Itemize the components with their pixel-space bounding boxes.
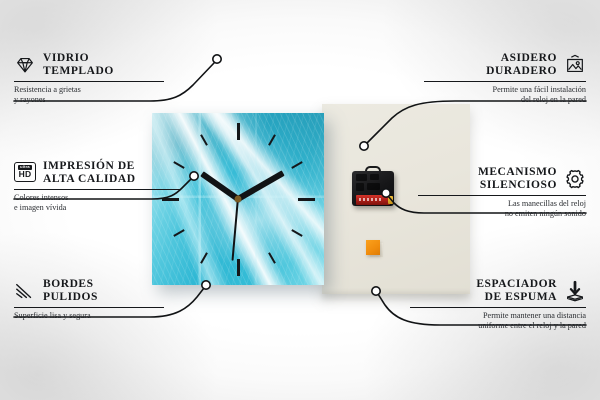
foam-spacer-pad	[366, 240, 380, 255]
aa-battery	[356, 195, 390, 205]
polished-edge-icon	[14, 280, 36, 302]
callout-asidero-duradero: ASIDERO DURADERO Permite una fácil insta…	[424, 52, 586, 105]
callout-rule	[14, 189, 180, 190]
callout-desc: Colores intensos e imagen vívida	[14, 193, 180, 213]
callout-impresion-alta-calidad: ultra HD IMPRESIÓN DE ALTA CALIDAD Color…	[14, 160, 180, 213]
callout-rule	[14, 307, 164, 308]
callout-desc: Permite una fácil instalación del reloj …	[424, 85, 586, 105]
callout-rule	[424, 81, 586, 82]
battery-label-print	[359, 198, 383, 201]
callout-desc: Permite mantener una distancia uniforme …	[410, 311, 586, 331]
mechanism-detail-d	[367, 183, 380, 190]
callout-desc: Las manecillas del reloj no emiten ningú…	[418, 199, 586, 219]
callout-rule	[410, 307, 586, 308]
callout-title: VIDRIO TEMPLADO	[43, 52, 114, 77]
callout-rule	[418, 195, 586, 196]
ultra-hd-icon: ultra HD	[14, 162, 36, 184]
callout-rule	[14, 81, 164, 82]
gear-icon	[564, 168, 586, 190]
foam-spacer	[366, 240, 383, 257]
infographic-canvas: VIDRIO TEMPLADO Resistencia a grietas y …	[0, 0, 600, 400]
diamond-icon	[14, 54, 36, 76]
mechanism-detail-b	[370, 174, 379, 180]
clock-tick	[298, 198, 315, 201]
mechanism-body	[352, 171, 394, 206]
down-arrow-pad-icon	[564, 280, 586, 302]
clock-tick	[237, 123, 240, 140]
callout-title: MECANISMO SILENCIOSO	[478, 166, 557, 191]
callout-desc: Resistencia a grietas y rayones	[14, 85, 164, 105]
callout-vidrio-templado: VIDRIO TEMPLADO Resistencia a grietas y …	[14, 52, 164, 105]
callout-bordes-pulidos: BORDES PULIDOS Superficie lisa y segura	[14, 278, 164, 321]
clock-center-hub	[235, 196, 242, 203]
wall-hanging-frame-icon	[564, 54, 586, 76]
ultra-hd-icon-main-text: HD	[19, 170, 32, 179]
callout-title: BORDES PULIDOS	[43, 278, 98, 303]
mechanism-detail-a	[356, 174, 367, 181]
callout-mecanismo-silencioso: MECANISMO SILENCIOSO Las manecillas del …	[418, 166, 586, 219]
callout-title: IMPRESIÓN DE ALTA CALIDAD	[43, 160, 136, 185]
callout-espaciador-de-espuma: ESPACIADOR DE ESPUMA Permite mantener un…	[410, 278, 586, 331]
clock-tick	[237, 259, 240, 276]
clock-mechanism	[352, 166, 394, 206]
callout-title: ASIDERO DURADERO	[486, 52, 557, 77]
mechanism-detail-c	[356, 183, 364, 191]
callout-title: ESPACIADOR DE ESPUMA	[476, 278, 557, 303]
callout-desc: Superficie lisa y segura	[14, 311, 164, 321]
